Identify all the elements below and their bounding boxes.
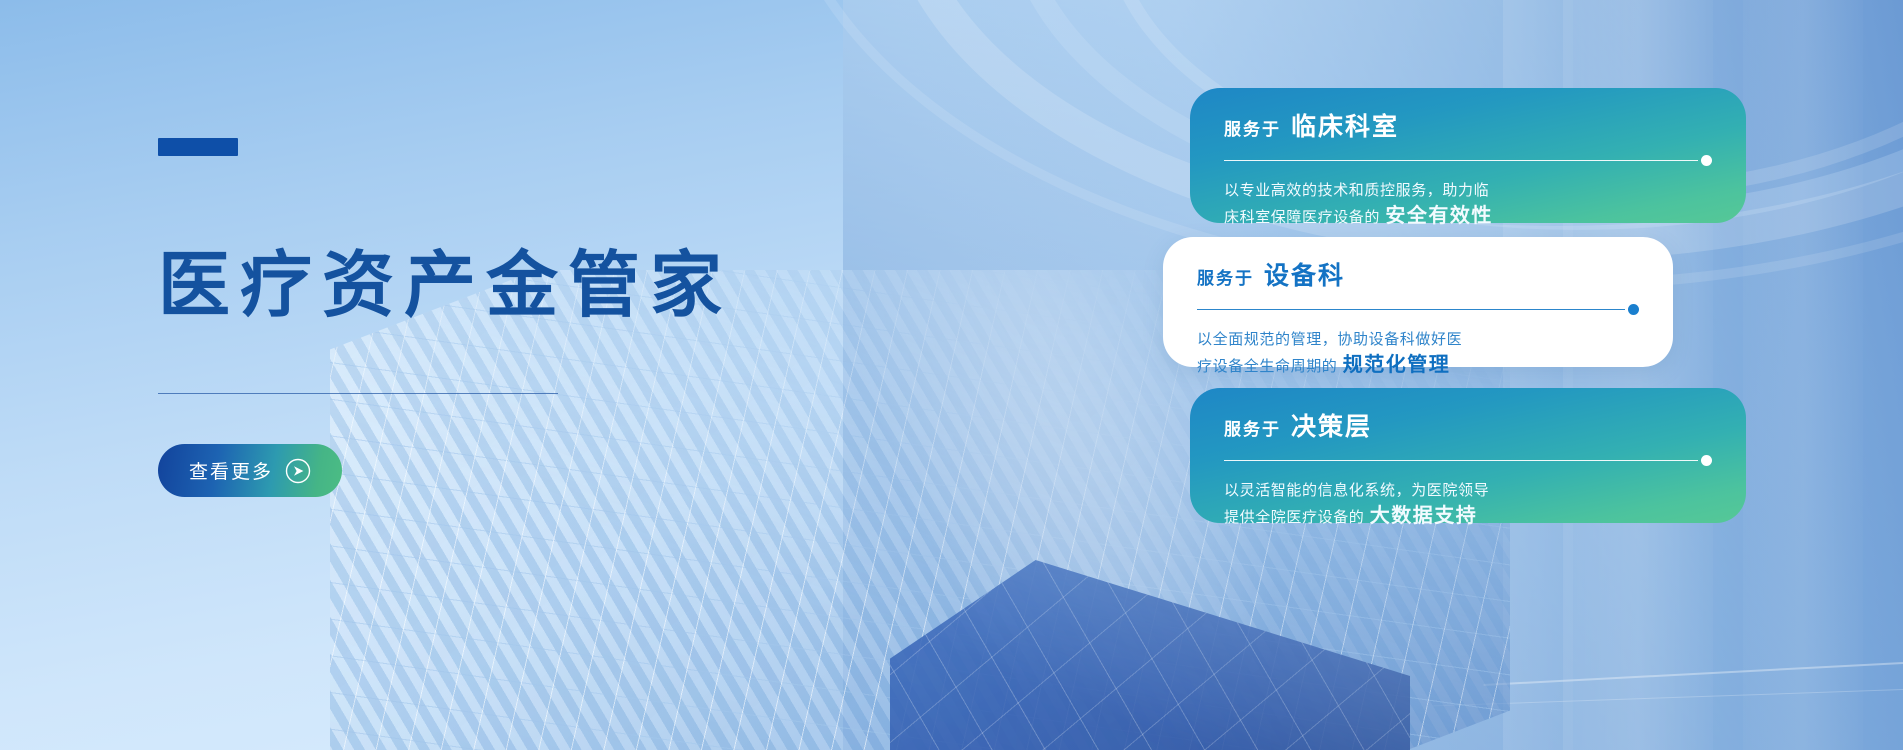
service-card-title: 服务于 临床科室 <box>1224 114 1712 139</box>
desc-line-1: 以全面规范的管理，协助设备科做好医 <box>1197 330 1462 348</box>
service-card-lead: 服务于 <box>1224 422 1281 439</box>
service-card-rule <box>1197 304 1639 315</box>
service-card-description: 以全面规范的管理，协助设备科做好医 疗设备全生命周期的 规范化管理 <box>1197 327 1639 379</box>
service-card-clinical[interactable]: 服务于 临床科室 以专业高效的技术和质控服务，助力临 床科室保障医疗设备的 安全… <box>1190 88 1746 223</box>
desc-line-1: 以专业高效的技术和质控服务，助力临 <box>1224 181 1489 199</box>
service-card-lead: 服务于 <box>1224 122 1281 139</box>
service-card-title: 服务于 设备科 <box>1197 263 1639 288</box>
rule-dot-icon <box>1628 304 1639 315</box>
service-card-target: 临床科室 <box>1291 114 1399 139</box>
service-card-description: 以专业高效的技术和质控服务，助力临 床科室保障医疗设备的 安全有效性 <box>1224 178 1712 230</box>
rule-dot-icon <box>1701 155 1712 166</box>
service-card-rule <box>1224 155 1712 166</box>
desc-emphasis: 安全有效性 <box>1385 203 1493 227</box>
service-card-target: 决策层 <box>1291 414 1372 439</box>
service-card-equipment[interactable]: 服务于 设备科 以全面规范的管理，协助设备科做好医 疗设备全生命周期的 规范化管… <box>1163 237 1673 367</box>
service-card-title: 服务于 决策层 <box>1224 414 1712 439</box>
hero-banner: 医疗资产金管家 查看更多 服务于 临床科室 以专业 <box>0 0 1903 750</box>
desc-emphasis: 大数据支持 <box>1370 503 1478 527</box>
rule-dot-icon <box>1701 455 1712 466</box>
service-card-decision[interactable]: 服务于 决策层 以灵活智能的信息化系统，为医院领导 提供全院医疗设备的 大数据支… <box>1190 388 1746 523</box>
service-card-lead: 服务于 <box>1197 271 1254 288</box>
rule-line <box>1197 309 1625 310</box>
service-card-list: 服务于 临床科室 以专业高效的技术和质控服务，助力临 床科室保障医疗设备的 安全… <box>0 0 1903 750</box>
service-card-target: 设备科 <box>1264 263 1345 288</box>
rule-line <box>1224 460 1698 461</box>
desc-line-1: 以灵活智能的信息化系统，为医院领导 <box>1224 481 1489 499</box>
service-card-description: 以灵活智能的信息化系统，为医院领导 提供全院医疗设备的 大数据支持 <box>1224 478 1712 530</box>
desc-line-2: 疗设备全生命周期的 <box>1197 357 1337 375</box>
desc-line-2: 提供全院医疗设备的 <box>1224 508 1364 526</box>
desc-line-2: 床科室保障医疗设备的 <box>1224 208 1380 226</box>
service-card-rule <box>1224 455 1712 466</box>
desc-emphasis: 规范化管理 <box>1343 352 1451 376</box>
rule-line <box>1224 160 1698 161</box>
